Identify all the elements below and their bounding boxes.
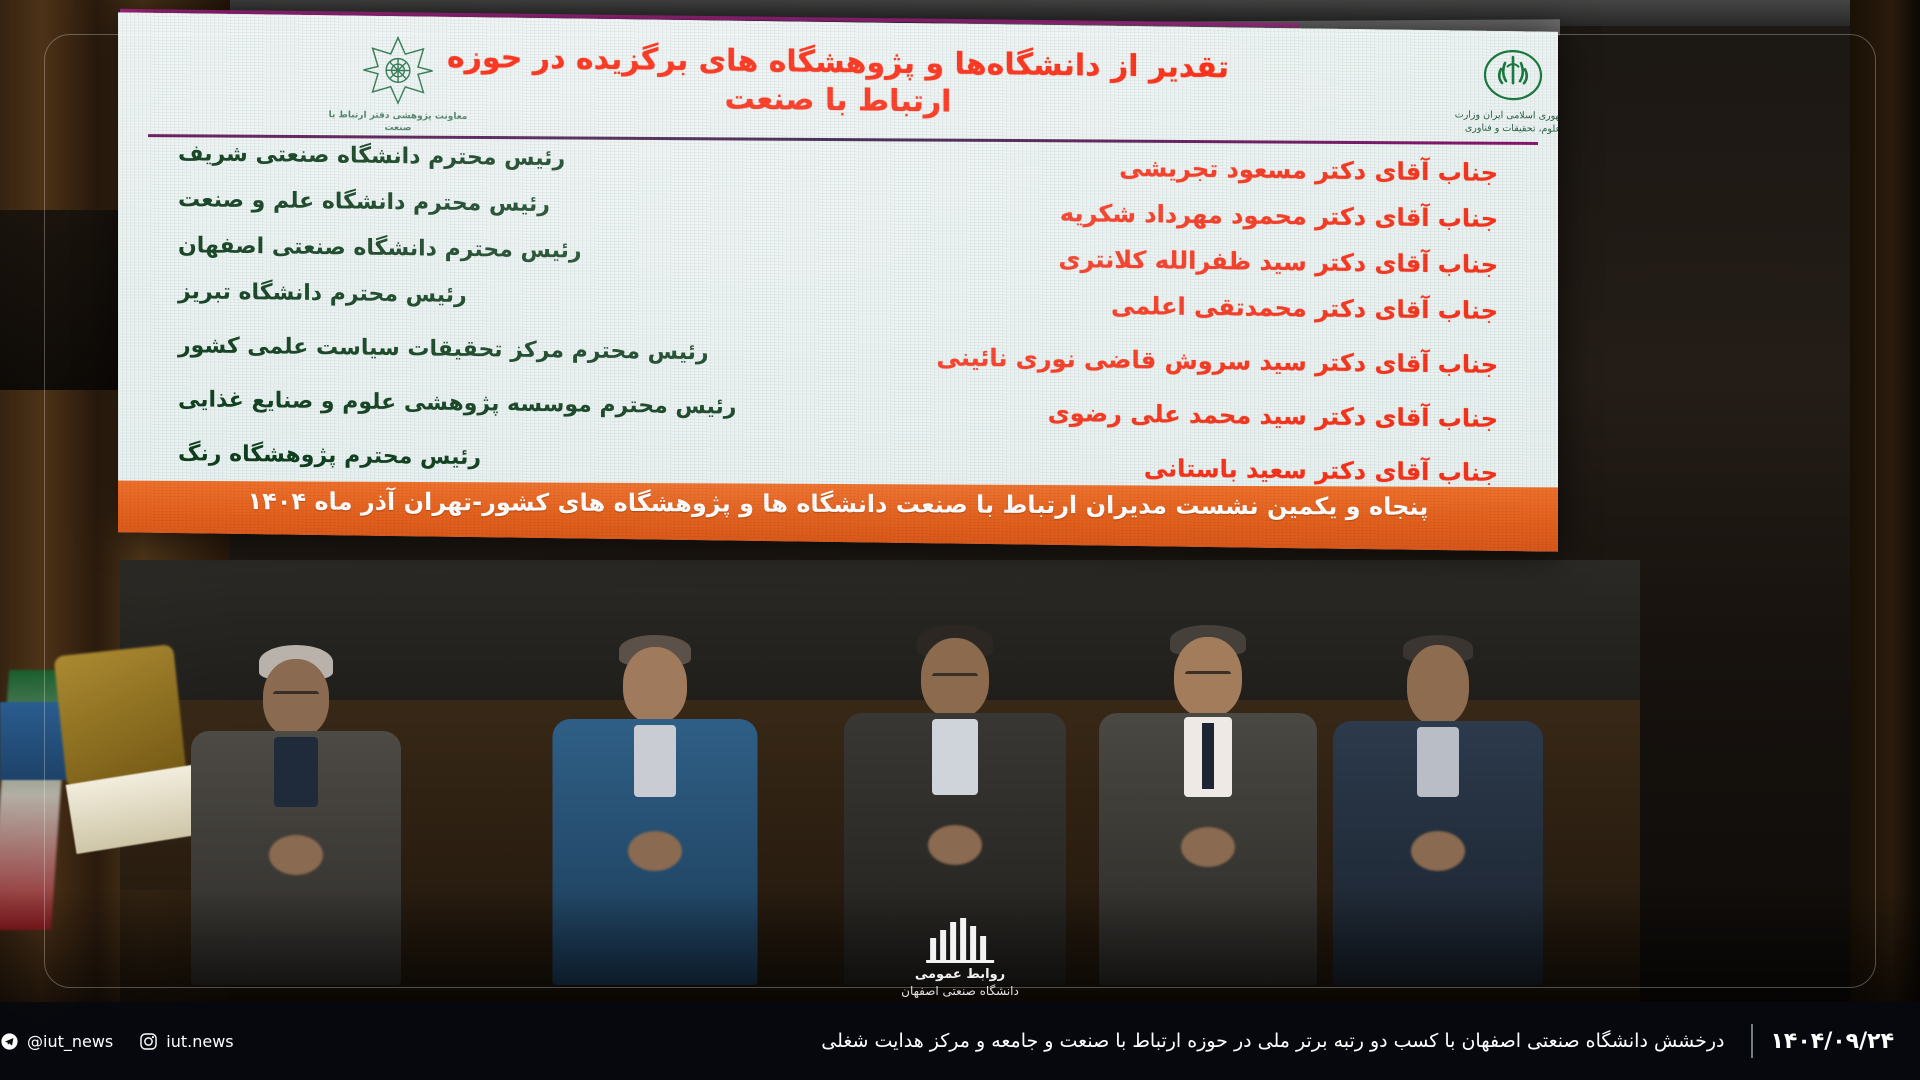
- honoree-name: جناب آقای دکتر محمود مهرداد شکریه: [1060, 199, 1498, 233]
- person-tie: [1202, 723, 1214, 789]
- person-shirt: [634, 725, 676, 797]
- social-links: iut.news @iut_news: [0, 1032, 260, 1051]
- ministry-emblem-caption: جمهوری اسلامی ایران وزارت علوم، تحقیقات …: [1448, 108, 1558, 136]
- public-relations-logo: روابط عمومی دانشگاه صنعتی اصفهان: [901, 916, 1019, 998]
- award-trophy: [54, 644, 187, 786]
- bar-divider: [1751, 1024, 1753, 1058]
- telegram-link[interactable]: @iut_news: [0, 1032, 113, 1051]
- person-head: [1407, 645, 1469, 725]
- photo-canvas: تقدیر از دانشگاه‌ها و پژوهشگاه های برگزی…: [0, 0, 1920, 1080]
- bottom-caption-bar: ۱۴۰۴/۰۹/۲۴ درخشش دانشگاه صنعتی اصفهان با…: [0, 1002, 1920, 1080]
- honoree-role: رئیس محترم دانشگاه صنعتی اصفهان: [178, 233, 582, 263]
- star-emblem-icon: [359, 34, 437, 108]
- honoree-role: رئیس محترم دانشگاه تبریز: [178, 279, 467, 308]
- slide-header: تقدیر از دانشگاه‌ها و پژوهشگاه های برگزی…: [118, 12, 1558, 151]
- honoree-name: جناب آقای دکتر سید ظفرالله کلانتری: [1058, 245, 1498, 279]
- person-hands: [628, 831, 682, 871]
- instagram-link[interactable]: iut.news: [139, 1032, 233, 1051]
- person-shirt: [1417, 727, 1459, 797]
- research-office-caption: معاونت پژوهشی دفتر ارتباط با صنعت: [318, 109, 478, 135]
- slide-surface: تقدیر از دانشگاه‌ها و پژوهشگاه های برگزی…: [118, 12, 1558, 551]
- honoree-name: جناب آقای دکتر محمدتقی اعلمی: [1111, 292, 1498, 325]
- person-glasses: [273, 691, 319, 702]
- honoree-name: جناب آقای دکتر مسعود تجریشی: [1119, 154, 1498, 187]
- iran-emblem-icon: [1481, 48, 1545, 107]
- person-hands: [928, 825, 982, 865]
- person-hands: [1411, 831, 1465, 871]
- slide-title: تقدیر از دانشگاه‌ها و پژوهشگاه های برگزی…: [418, 38, 1258, 124]
- honoree-name: جناب آقای دکتر سعید باستانی: [1144, 454, 1498, 487]
- iut-logo-icon: [924, 916, 996, 964]
- person-shirt: [274, 737, 318, 807]
- projection-screen: تقدیر از دانشگاه‌ها و پژوهشگاه های برگزی…: [118, 12, 1558, 551]
- news-caption: درخشش دانشگاه صنعتی اصفهان با کسب دو رتب…: [795, 1030, 1750, 1052]
- person-glasses: [932, 673, 978, 684]
- ministry-emblem: جمهوری اسلامی ایران وزارت علوم، تحقیقات …: [1448, 36, 1558, 148]
- person-head: [623, 647, 687, 723]
- honoree-role: رئیس محترم دانشگاه صنعتی شریف: [178, 141, 565, 171]
- research-office-emblem: معاونت پژوهشی دفتر ارتباط با صنعت: [318, 33, 478, 135]
- telegram-icon: [0, 1032, 19, 1051]
- telegram-handle: @iut_news: [27, 1032, 113, 1051]
- honoree-role: رئیس محترم دانشگاه علم و صنعت: [178, 187, 550, 217]
- pr-logo-title: روابط عمومی: [915, 967, 1005, 982]
- person-hands: [1181, 827, 1235, 867]
- instagram-icon: [139, 1032, 158, 1051]
- pr-logo-subtitle: دانشگاه صنعتی اصفهان: [901, 984, 1019, 998]
- instagram-handle: iut.news: [166, 1032, 233, 1051]
- person-shirt: [932, 719, 978, 795]
- honoree-name: جناب آقای دکتر سید محمد علی رضوی: [1048, 399, 1498, 433]
- person-glasses: [1185, 671, 1231, 682]
- news-date: ۱۴۰۴/۰۹/۲۴: [1753, 1029, 1920, 1054]
- person-hands: [269, 835, 323, 875]
- honoree-list: جناب آقای دکتر مسعود تجریشی رئیس محترم د…: [118, 140, 1558, 489]
- honoree-role: رئیس محترم پژوهشگاه رنگ: [178, 441, 481, 470]
- slide-footer-banner-text: پنجاه و یکمین نشست مدیران ارتباط با صنعت…: [118, 487, 1558, 522]
